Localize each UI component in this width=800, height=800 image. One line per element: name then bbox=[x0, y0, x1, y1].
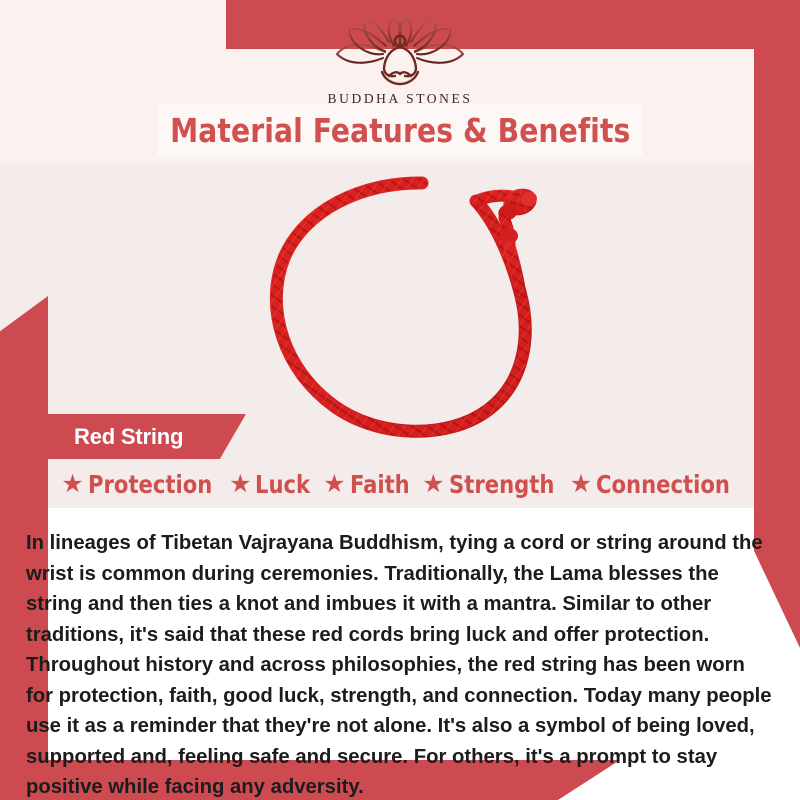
star-icon: ★ bbox=[422, 472, 444, 497]
benefit-item: ★ Protection bbox=[61, 470, 220, 499]
benefit-label: Strength bbox=[449, 470, 554, 499]
product-image bbox=[252, 166, 582, 458]
page-title: Material Features & Benefits bbox=[170, 111, 630, 150]
title-plate: Material Features & Benefits bbox=[157, 104, 643, 157]
benefit-item: ★ Faith bbox=[323, 470, 413, 499]
material-ribbon: Red String bbox=[28, 414, 246, 459]
brand-logo: BUDDHA STONES bbox=[0, 16, 800, 107]
star-icon: ★ bbox=[570, 472, 592, 497]
benefit-item: ★ Strength bbox=[422, 470, 561, 499]
benefit-label: Protection bbox=[88, 470, 212, 499]
benefit-item: ★ Luck bbox=[229, 470, 314, 499]
star-icon: ★ bbox=[61, 472, 83, 497]
benefits-list: ★ Protection ★ Luck ★ Faith ★ Strength ★… bbox=[0, 466, 800, 502]
benefit-label: Connection bbox=[596, 470, 730, 499]
brand-wordmark: BUDDHA STONES bbox=[328, 91, 473, 107]
poster-canvas: BUDDHA STONES Material Features & Benefi… bbox=[0, 0, 800, 800]
star-icon: ★ bbox=[323, 472, 345, 497]
material-name: Red String bbox=[74, 424, 183, 450]
benefit-item: ★ Connection bbox=[570, 470, 739, 499]
benefit-label: Faith bbox=[350, 470, 410, 499]
lotus-meditation-icon bbox=[325, 16, 475, 88]
description-paragraph: In lineages of Tibetan Vajrayana Buddhis… bbox=[26, 528, 776, 800]
benefit-label: Luck bbox=[255, 470, 310, 499]
star-icon: ★ bbox=[229, 472, 251, 497]
